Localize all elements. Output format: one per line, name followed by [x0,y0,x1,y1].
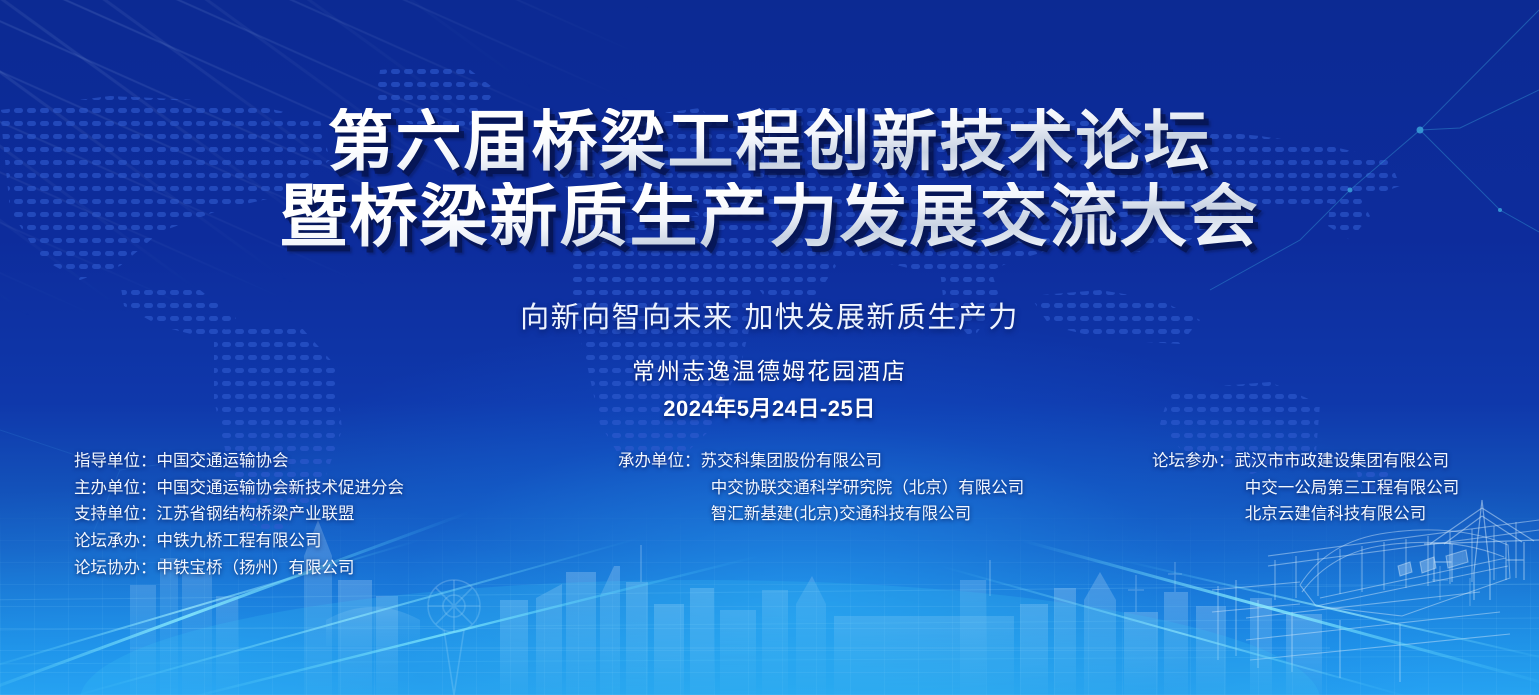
credit-row: 中交协联交通科学研究院（北京）有限公司 [618,475,1024,502]
venue-date: 2024年5月24日-25日 [0,391,1539,423]
credits-column-right: 论坛参办：武汉市市政建设集团有限公司中交一公局第三工程有限公司北京云建信科技有限… [1152,448,1459,528]
credit-row: 论坛协办：中铁宝桥（扬州）有限公司 [74,555,404,582]
credit-value: 江苏省钢结构桥梁产业联盟 [157,504,355,523]
title-line-1: 第六届桥梁工程创新技术论坛 [0,108,1539,176]
credit-value: 中交一公局第三工程有限公司 [1245,478,1460,497]
credits-column-left: 指导单位：中国交通运输协会主办单位：中国交通运输协会新技术促进分会支持单位：江苏… [74,448,404,582]
venue-info: 常州志逸温德姆花园酒店 2024年5月24日-25日 [0,352,1539,423]
page-title: 第六届桥梁工程创新技术论坛 暨桥梁新质生产力发展交流大会 [0,108,1539,252]
credit-label: 指导单位： [74,451,157,470]
credit-value: 中国交通运输协会 [157,451,289,470]
credit-value: 北京云建信科技有限公司 [1245,504,1427,523]
credit-value: 苏交科集团股份有限公司 [701,451,883,470]
credit-row: 论坛参办：武汉市市政建设集团有限公司 [1152,448,1459,475]
credit-row: 承办单位：苏交科集团股份有限公司 [618,448,1024,475]
credit-label: 论坛承办： [74,531,157,550]
credit-row: 中交一公局第三工程有限公司 [1152,475,1459,502]
credit-label: 论坛参办： [1152,451,1235,470]
conference-banner: 第六届桥梁工程创新技术论坛 暨桥梁新质生产力发展交流大会 向新向智向未来 加快发… [0,0,1539,695]
credit-row: 论坛承办：中铁九桥工程有限公司 [74,528,404,555]
credit-value: 智汇新基建(北京)交通科技有限公司 [711,504,971,523]
credit-row: 北京云建信科技有限公司 [1152,501,1459,528]
credit-label: 主办单位： [74,478,157,497]
credit-value: 武汉市市政建设集团有限公司 [1235,451,1450,470]
credit-label: 承办单位： [618,451,701,470]
banner-subtitle: 向新向智向未来 加快发展新质生产力 [0,294,1539,336]
credit-value: 中国交通运输协会新技术促进分会 [157,478,405,497]
credit-row: 主办单位：中国交通运输协会新技术促进分会 [74,475,404,502]
credit-row: 智汇新基建(北京)交通科技有限公司 [618,501,1024,528]
credit-label: 支持单位： [74,504,157,523]
credit-value: 中铁九桥工程有限公司 [157,531,322,550]
credit-value: 中交协联交通科学研究院（北京）有限公司 [711,478,1025,497]
credit-row: 支持单位：江苏省钢结构桥梁产业联盟 [74,501,404,528]
credit-row: 指导单位：中国交通运输协会 [74,448,404,475]
venue-name: 常州志逸温德姆花园酒店 [0,352,1539,386]
credit-label: 论坛协办： [74,558,157,577]
credits-column-middle: 承办单位：苏交科集团股份有限公司中交协联交通科学研究院（北京）有限公司智汇新基建… [618,448,1024,528]
credit-value: 中铁宝桥（扬州）有限公司 [157,558,355,577]
title-line-2: 暨桥梁新质生产力发展交流大会 [0,182,1539,252]
